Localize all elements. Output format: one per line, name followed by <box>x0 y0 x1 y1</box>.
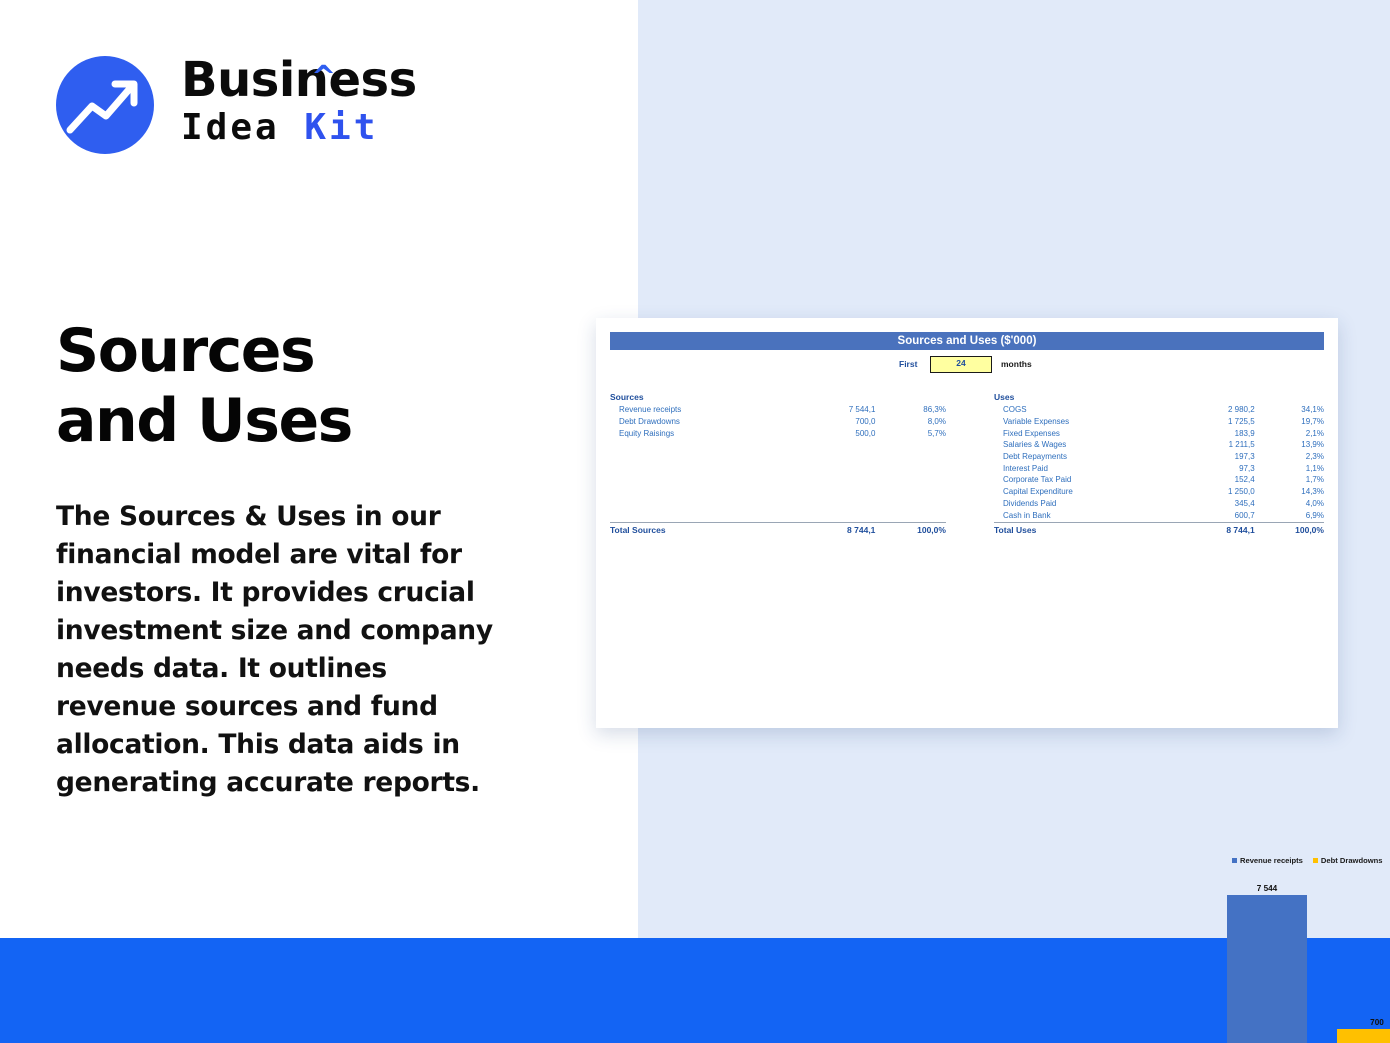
total-label: Total Sources <box>610 525 805 535</box>
row-value: 1 250,0 <box>1185 487 1254 496</box>
first-label: First <box>899 356 917 372</box>
table-spacer <box>610 486 946 498</box>
row-label: Revenue receipts <box>610 405 805 414</box>
bar[interactable] <box>1227 895 1306 1043</box>
table-row: Fixed Expenses 183,9 2,1% <box>994 427 1324 439</box>
row-label: Equity Raisings <box>610 429 805 438</box>
table-row: Salaries & Wages 1 211,5 13,9% <box>994 439 1324 451</box>
row-percent: 1,1% <box>1255 464 1324 473</box>
table-row: Equity Raisings 500,0 5,7% <box>610 427 946 439</box>
legend-swatch-icon <box>1313 858 1318 863</box>
row-percent: 5,7% <box>875 429 946 438</box>
total-value: 8 744,1 <box>1185 525 1254 535</box>
row-percent: 2,1% <box>1255 429 1324 438</box>
sources-header: Sources <box>610 392 946 404</box>
row-value: 7 544,1 <box>805 405 876 414</box>
table-spacer <box>610 474 946 486</box>
row-value: 700,0 <box>805 417 876 426</box>
brand-word-kit: Kit <box>304 107 378 148</box>
legend-item[interactable]: Debt Drawdowns <box>1313 856 1383 865</box>
total-label: Total Uses <box>994 525 1185 535</box>
row-label: Capital Expenditure <box>994 487 1185 496</box>
brand-word-idea: Idea <box>181 107 304 148</box>
bar[interactable] <box>1337 1029 1390 1043</box>
row-percent: 86,3% <box>875 405 946 414</box>
table-row: Revenue receipts 7 544,1 86,3% <box>610 404 946 416</box>
row-label: Fixed Expenses <box>994 429 1185 438</box>
table-row: COGS 2 980,2 34,1% <box>994 404 1324 416</box>
table-spacer <box>610 498 946 510</box>
legend-label: Debt Drawdowns <box>1321 856 1383 865</box>
sources-bar-group: 7 544700500 <box>1212 878 1390 1043</box>
row-value: 183,9 <box>1185 429 1254 438</box>
brand-word-business-text: Business <box>181 52 417 108</box>
sources-total-row: Total Sources 8 744,1 100,0% <box>610 523 946 537</box>
row-percent: 6,9% <box>1255 511 1324 520</box>
table-spacer <box>610 439 946 451</box>
row-label: Dividends Paid <box>994 499 1185 508</box>
row-percent: 19,7% <box>1255 417 1324 426</box>
row-value: 97,3 <box>1185 464 1254 473</box>
page-title: Sourcesand Uses <box>56 316 576 456</box>
row-value: 1 725,5 <box>1185 417 1254 426</box>
uses-total-row: Total Uses 8 744,1 100,0% <box>994 523 1324 537</box>
brand-word-business: Business ^ <box>181 52 417 108</box>
row-label: COGS <box>994 405 1185 414</box>
row-value: 600,7 <box>1185 511 1254 520</box>
row-label: Interest Paid <box>994 464 1185 473</box>
table-spacer <box>610 462 946 474</box>
brand-logo: Business ^ Idea Kit <box>56 52 436 160</box>
row-label: Debt Drawdowns <box>610 417 805 426</box>
row-percent: 1,7% <box>1255 475 1324 484</box>
row-label: Debt Repayments <box>994 452 1185 461</box>
row-label: Corporate Tax Paid <box>994 475 1185 484</box>
table-row: Debt Repayments 197,3 2,3% <box>994 451 1324 463</box>
row-percent: 14,3% <box>1255 487 1324 496</box>
row-value: 1 211,5 <box>1185 440 1254 449</box>
row-label: Cash in Bank <box>994 511 1185 520</box>
row-value: 197,3 <box>1185 452 1254 461</box>
legend-label: Revenue receipts <box>1240 856 1303 865</box>
row-percent: 13,9% <box>1255 440 1324 449</box>
row-value: 152,4 <box>1185 475 1254 484</box>
bar-column: 700 <box>1322 878 1390 1043</box>
row-value: 2 980,2 <box>1185 405 1254 414</box>
sources-table: Sources Revenue receipts 7 544,1 86,3% D… <box>610 392 946 537</box>
table-row: Variable Expenses 1 725,5 19,7% <box>994 416 1324 428</box>
table-spacer <box>610 451 946 463</box>
legend-swatch-icon <box>1232 858 1237 863</box>
months-label: months <box>1001 356 1032 372</box>
row-label: Salaries & Wages <box>994 440 1185 449</box>
table-row: Capital Expenditure 1 250,0 14,3% <box>994 486 1324 498</box>
legend-item[interactable]: Revenue receipts <box>1232 856 1303 865</box>
table-row: Cash in Bank 600,7 6,9% <box>994 509 1324 521</box>
bar-column: 7 544 <box>1212 878 1322 1043</box>
table-row: Debt Drawdowns 700,0 8,0% <box>610 416 946 428</box>
uses-table: Uses COGS 2 980,2 34,1% Variable Expense… <box>994 392 1324 537</box>
sources-chart-legend: Revenue receiptsDebt DrawdownsEquity Rai… <box>1232 856 1390 865</box>
total-value: 8 744,1 <box>805 525 876 535</box>
bottom-accent-bar <box>0 938 1390 1043</box>
brand-word-ideakit: Idea Kit <box>181 106 417 150</box>
body-paragraph: The Sources & Uses in our financial mode… <box>56 498 508 802</box>
row-percent: 8,0% <box>875 417 946 426</box>
months-input[interactable]: 24 <box>930 356 992 373</box>
table-row: Dividends Paid 345,4 4,0% <box>994 498 1324 510</box>
table-row: Interest Paid 97,3 1,1% <box>994 462 1324 474</box>
spreadsheet-screenshot-panel: Sources and Uses ($'000) First 24 months… <box>596 318 1338 728</box>
total-percent: 100,0% <box>1255 525 1324 535</box>
total-percent: 100,0% <box>875 525 946 535</box>
uses-header: Uses <box>994 392 1324 404</box>
months-control-row: First 24 months <box>610 356 1324 372</box>
sources-bar-chart: 7 544700500 <box>1212 878 1390 1043</box>
panel-title-bar: Sources and Uses ($'000) <box>610 332 1324 350</box>
row-percent: 4,0% <box>1255 499 1324 508</box>
slide-root: Business ^ Idea Kit Sourcesand Uses The … <box>0 0 1390 1043</box>
row-value: 345,4 <box>1185 499 1254 508</box>
row-label: Variable Expenses <box>994 417 1185 426</box>
brand-circumflex-accent: ^ <box>311 50 336 106</box>
row-percent: 2,3% <box>1255 452 1324 461</box>
bar-value-label: 7 544 <box>1257 884 1278 893</box>
row-value: 500,0 <box>805 429 876 438</box>
row-percent: 34,1% <box>1255 405 1324 414</box>
growth-arrow-icon <box>56 56 154 154</box>
bar-value-label: 700 <box>1370 1018 1384 1027</box>
table-row: Corporate Tax Paid 152,4 1,7% <box>994 474 1324 486</box>
table-spacer <box>610 509 946 521</box>
